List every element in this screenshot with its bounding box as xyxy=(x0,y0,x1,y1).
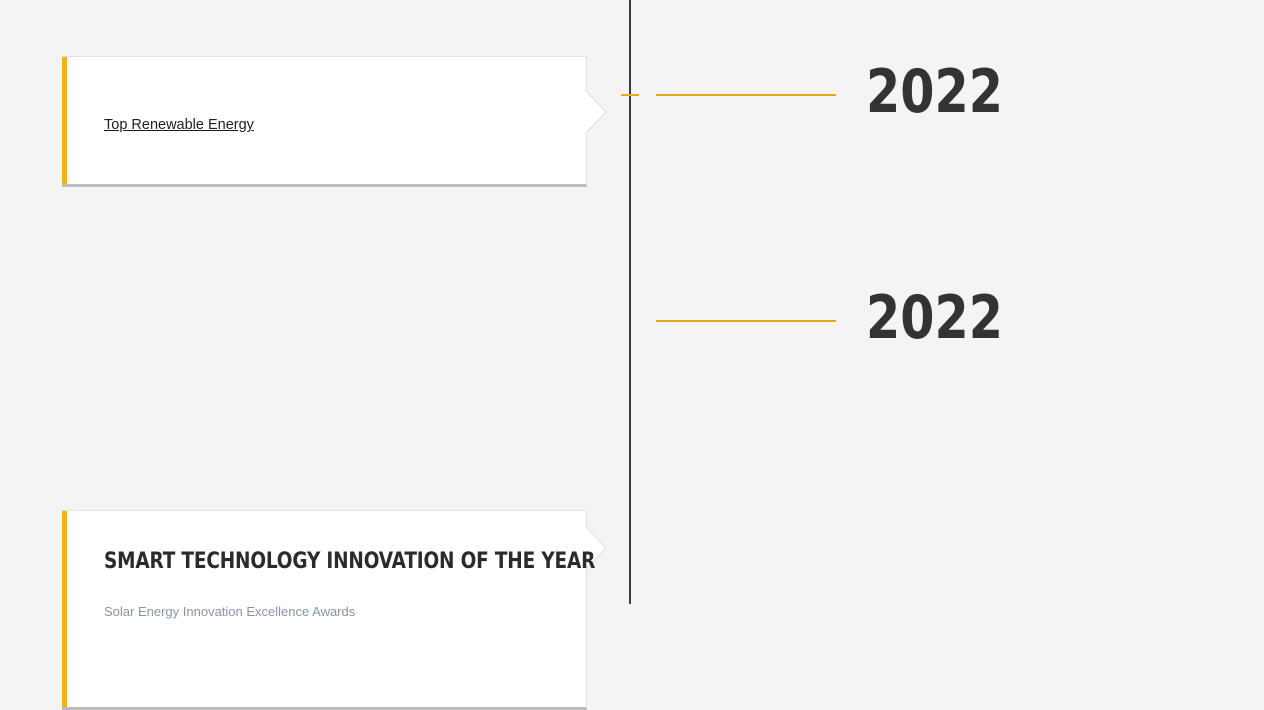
card-arrow-pointer xyxy=(585,90,607,134)
timeline-page: Top Renewable Energy 2022 Smart Technolo… xyxy=(0,0,1264,624)
timeline-card[interactable]: Top Renewable Energy xyxy=(62,56,587,187)
card-content: Smart Technology Innovation of the Year … xyxy=(104,547,562,621)
card-arrow-outline-icon xyxy=(585,90,607,134)
year-label: 2022 xyxy=(866,62,1003,122)
year-connector-line xyxy=(656,94,836,96)
card-link[interactable]: Top Renewable Energy xyxy=(104,115,254,135)
card-title: Smart Technology Innovation of the Year xyxy=(104,547,608,577)
timeline-vertical-axis xyxy=(629,0,631,604)
card-accent-bar xyxy=(62,57,67,184)
card-subtitle: Solar Energy Innovation Excellence Award… xyxy=(104,603,562,621)
card-content: Top Renewable Energy xyxy=(104,115,562,135)
year-connector-line xyxy=(656,320,836,322)
card-accent-bar xyxy=(62,511,67,707)
timeline-card[interactable]: Smart Technology Innovation of the Year … xyxy=(62,510,587,710)
year-label: 2022 xyxy=(866,288,1003,348)
axis-tick-marker xyxy=(621,94,639,96)
